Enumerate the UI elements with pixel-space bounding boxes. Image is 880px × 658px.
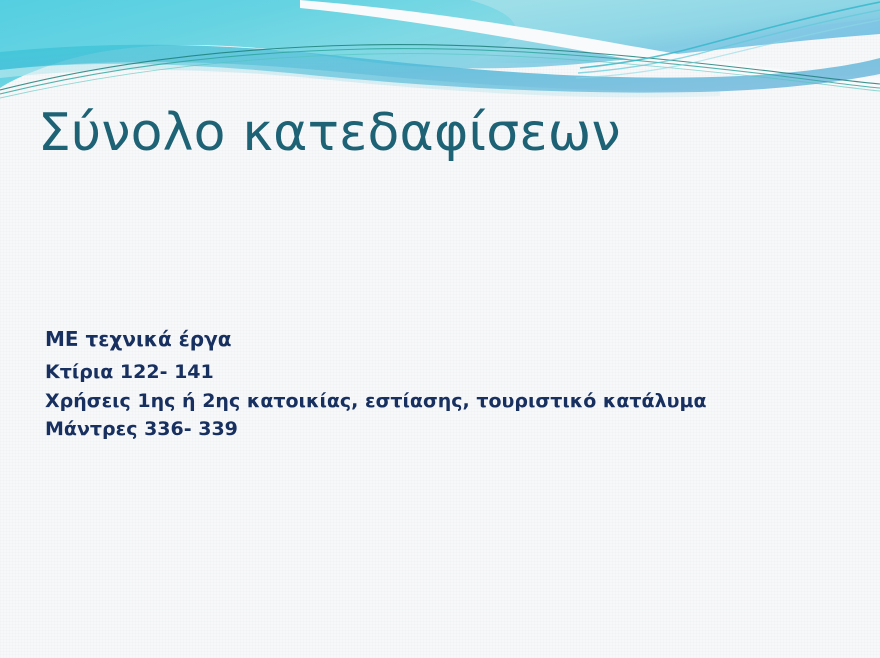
body-line-buildings: Κτίρια 122- 141 (45, 358, 835, 387)
presentation-slide: Σύνολο κατεδαφίσεων ΜΕ τεχνικά έργα Κτίρ… (0, 0, 880, 658)
slide-title: Σύνολο κατεδαφίσεων (38, 104, 838, 162)
body-heading: ΜΕ τεχνικά έργα (45, 324, 835, 354)
body-line-yards: Μάντρες 336- 339 (45, 415, 835, 444)
body-line-uses: Χρήσεις 1ης ή 2ης κατοικίας, εστίασης, τ… (45, 387, 835, 416)
wave-banner-graphic (0, 0, 880, 120)
slide-body-text: ΜΕ τεχνικά έργα Κτίρια 122- 141 Χρήσεις … (45, 324, 835, 444)
